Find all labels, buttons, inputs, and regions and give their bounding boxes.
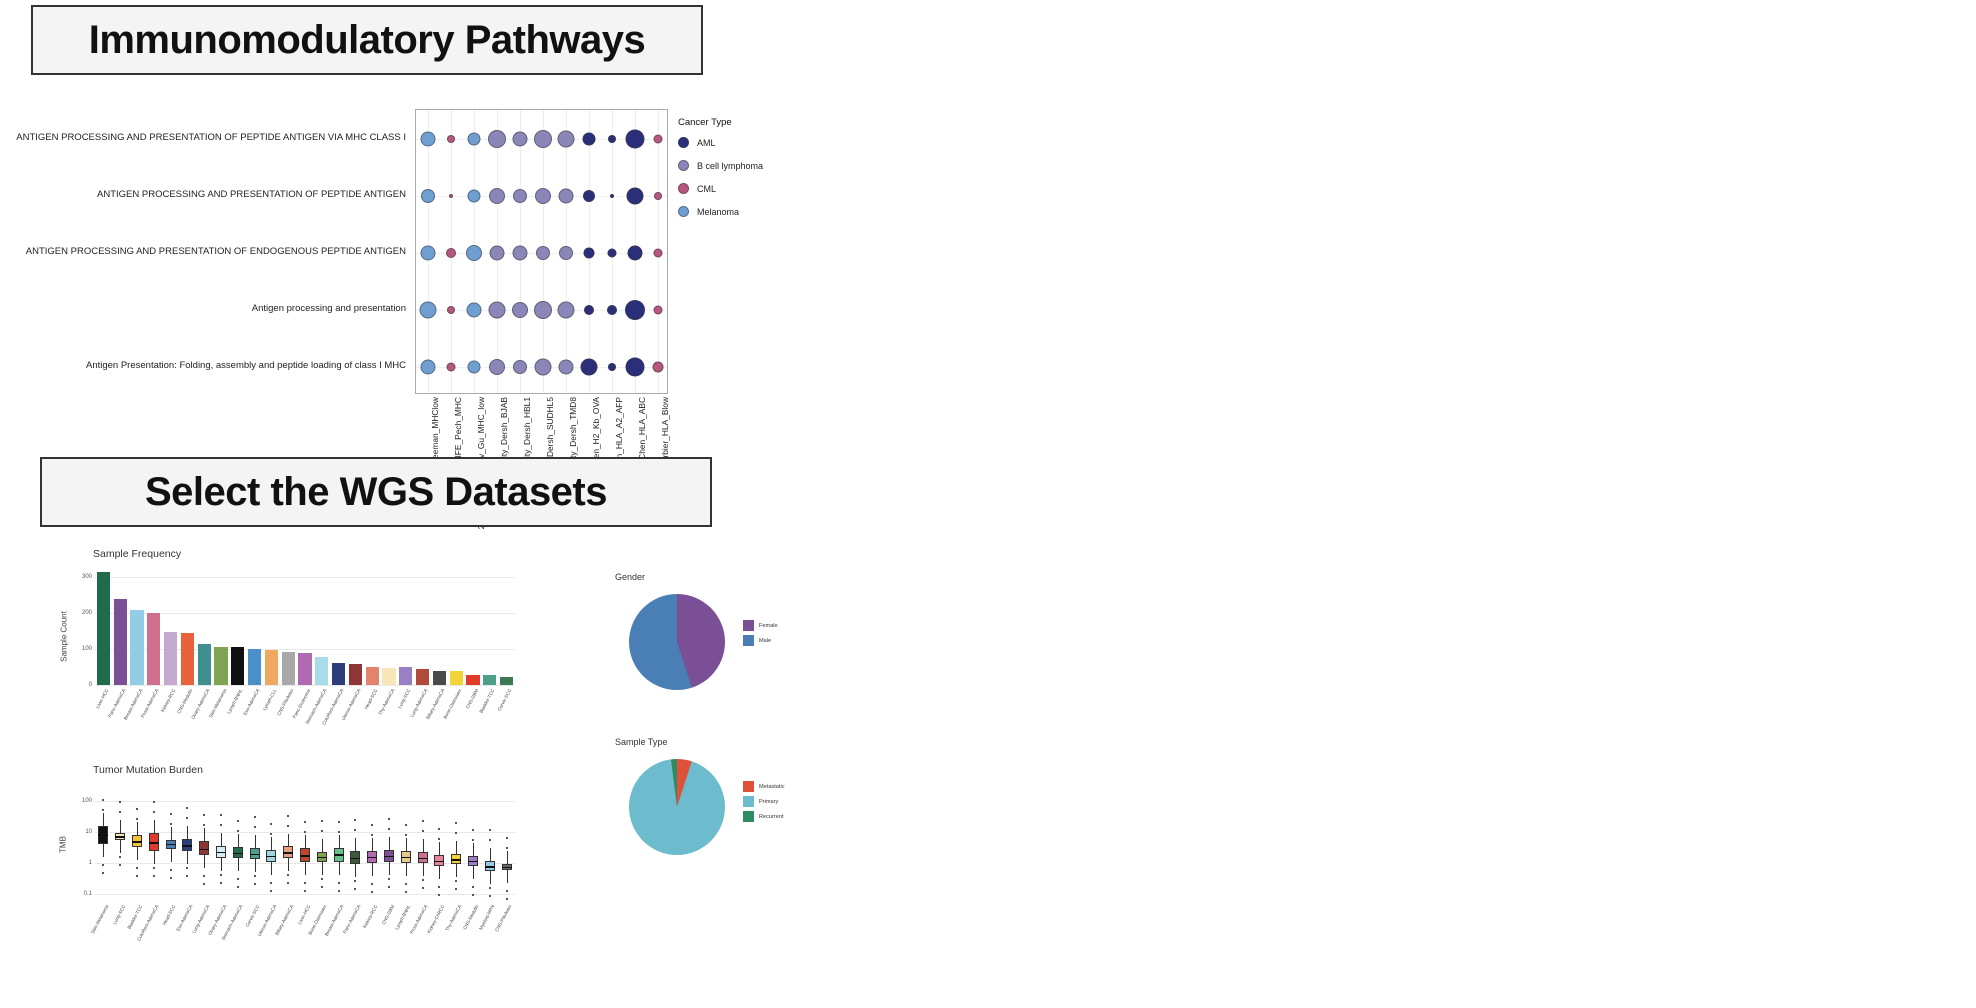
outlier-point	[338, 821, 340, 823]
outlier-point	[287, 815, 289, 817]
outlier-point	[304, 882, 306, 884]
dotplot-dot[interactable]	[653, 248, 662, 257]
pie-legend: MetastaticPrimaryRecurrent	[743, 781, 785, 826]
dotplot-dot[interactable]	[580, 358, 597, 375]
bar[interactable]	[450, 671, 463, 685]
x-tick-label: Skin-Melanoma	[208, 688, 227, 719]
median-line	[266, 856, 276, 858]
legend-color-swatch	[743, 811, 754, 822]
outlier-point	[422, 879, 424, 881]
legend-item[interactable]: Recurrent	[743, 811, 785, 822]
y-tick-label: 300	[75, 574, 92, 580]
dotplot-dot[interactable]	[447, 306, 455, 314]
grid-line	[95, 577, 515, 578]
bar[interactable]	[500, 677, 513, 685]
bar[interactable]	[282, 652, 295, 685]
outlier-point	[371, 824, 373, 826]
dotplot-dot[interactable]	[653, 305, 662, 314]
x-tick-label: Lymph-BNHL	[227, 688, 244, 715]
dotplot-dot[interactable]	[625, 300, 645, 320]
outlier-point	[287, 882, 289, 884]
outlier-point	[455, 888, 457, 890]
pie[interactable]	[629, 594, 725, 690]
panel-immunomodulatory-pathways: Immunomodulatory Pathways ANTIGEN PROCES…	[0, 0, 988, 470]
outlier-point	[254, 883, 256, 885]
outlier-point	[270, 823, 272, 825]
outlier-point	[203, 875, 205, 877]
median-line	[401, 857, 411, 859]
wgs-dashboard: Sample FrequencySample Count0100200300Li…	[35, 542, 835, 992]
dotplot-row-label: ANTIGEN PROCESSING AND PRESENTATION OF P…	[10, 109, 410, 166]
dotplot-dot[interactable]	[558, 359, 573, 374]
outlier-point	[304, 821, 306, 823]
outlier-point	[489, 829, 491, 831]
dotplot-dot[interactable]	[583, 190, 595, 202]
x-tick-label: Cervix-SCC	[497, 688, 513, 712]
legend-item-label: Metastatic	[759, 784, 785, 790]
tumor-mutation-burden-chart: Tumor Mutation BurdenTMB0.1110100Skin-Me…	[35, 760, 595, 990]
pie[interactable]	[629, 759, 725, 855]
outlier-point	[321, 830, 323, 832]
legend-item-label: AML	[697, 138, 716, 148]
outlier-point	[119, 801, 121, 803]
pie-legend: FemaleMale	[743, 620, 778, 650]
bar[interactable]	[181, 633, 194, 685]
chart-title: Tumor Mutation Burden	[93, 764, 203, 776]
outlier-point	[489, 887, 491, 889]
outlier-point	[254, 816, 256, 818]
median-line	[132, 841, 142, 843]
dotplot-dot[interactable]	[513, 360, 527, 374]
legend-color-swatch	[678, 137, 689, 148]
dotplot-dot[interactable]	[608, 135, 616, 143]
outlier-point	[506, 890, 508, 892]
outlier-point	[203, 814, 205, 816]
x-tick-label: Uterus-AdenoCA	[341, 688, 362, 721]
dotplot-dot[interactable]	[583, 247, 594, 258]
outlier-point	[153, 867, 155, 869]
x-tick-label: Lymph-CLL	[262, 688, 277, 711]
legend-item[interactable]: AML	[678, 137, 763, 148]
outlier-point	[153, 801, 155, 803]
chart-title: Gender	[615, 572, 645, 582]
median-line	[367, 857, 377, 859]
bar[interactable]	[349, 664, 362, 685]
dotplot-dot[interactable]	[512, 245, 527, 260]
outlier-point	[254, 875, 256, 877]
median-line	[250, 854, 260, 856]
dotplot-chart: ANTIGEN PROCESSING AND PRESENTATION OF P…	[0, 95, 800, 425]
dotplot-dot[interactable]	[535, 188, 551, 204]
x-tick-label: CNS-GBM	[464, 688, 479, 710]
dotplot-dot[interactable]	[419, 301, 436, 318]
outlier-point	[237, 878, 239, 880]
dotplot-dot[interactable]	[534, 301, 552, 319]
legend-item-label: Melanoma	[697, 207, 739, 217]
x-tick-label: Lymph-BNHL	[395, 904, 412, 931]
outlier-point	[438, 828, 440, 830]
dotplot-dot[interactable]	[467, 360, 480, 373]
x-tick-label: Cervix-SCC	[245, 904, 261, 928]
dotplot-dot[interactable]	[488, 130, 506, 148]
outlier-point	[388, 818, 390, 820]
outlier-point	[422, 887, 424, 889]
dotplot-dot[interactable]	[512, 302, 528, 318]
dotplot-dot[interactable]	[534, 358, 551, 375]
dotplot-dot[interactable]	[607, 248, 616, 257]
legend-item-label: Recurrent	[759, 814, 784, 820]
dotplot-dot[interactable]	[466, 302, 481, 317]
dotplot-dot[interactable]	[607, 305, 617, 315]
outlier-point	[254, 826, 256, 828]
outlier-point	[338, 890, 340, 892]
outlier-point	[153, 811, 155, 813]
panel-select-wgs-datasets: Select the WGS Datasets Sample Frequency…	[0, 470, 988, 1008]
bar[interactable]	[164, 632, 177, 685]
outlier-point	[388, 828, 390, 830]
dotplot-dot[interactable]	[488, 301, 505, 318]
dotplot-dot[interactable]	[534, 130, 552, 148]
dotplot-dot[interactable]	[652, 361, 663, 372]
legend-color-swatch	[743, 620, 754, 631]
dotplot-dot[interactable]	[584, 305, 594, 315]
outlier-point	[304, 831, 306, 833]
outlier-point	[455, 832, 457, 834]
y-tick-label: 0.1	[73, 891, 92, 897]
dotplot-dot[interactable]	[489, 359, 505, 375]
bar[interactable]	[231, 647, 244, 685]
y-tick-label: 10	[73, 829, 92, 835]
dotplot-row-label: ANTIGEN PROCESSING AND PRESENTATION OF E…	[10, 223, 410, 280]
outlier-point	[405, 824, 407, 826]
y-tick-label: 100	[75, 646, 92, 652]
outlier-point	[220, 824, 222, 826]
sample-frequency-chart: Sample FrequencySample Count0100200300Li…	[35, 542, 595, 757]
outlier-point	[220, 874, 222, 876]
x-tick-label: Skin-Melanoma	[90, 904, 109, 935]
legend-color-swatch	[743, 781, 754, 792]
outlier-point	[119, 864, 121, 866]
outlier-point	[354, 888, 356, 890]
median-line	[300, 855, 310, 857]
x-tick-label: Head-SCC	[363, 688, 378, 710]
outlier-point	[422, 820, 424, 822]
panel-explore-your-genes: Explore Your Genes TP530-1MHC-I regulati…	[988, 470, 1976, 1008]
outlier-point	[388, 886, 390, 888]
x-tick-label: Liver-HCC	[95, 688, 109, 709]
outlier-point	[506, 837, 508, 839]
bar[interactable]	[265, 650, 278, 685]
outlier-point	[472, 886, 474, 888]
panel-title-select-wgs-datasets: Select the WGS Datasets	[40, 457, 712, 527]
x-tick-label: Head-SCC	[162, 904, 177, 926]
dotplot-dot[interactable]	[626, 187, 643, 204]
x-tick-label: Thy-AdenoCA	[444, 904, 462, 932]
outlier-point	[438, 886, 440, 888]
x-tick-label: Kidney-RCC	[160, 688, 176, 713]
outlier-point	[405, 891, 407, 893]
dotplot-dot[interactable]	[557, 130, 574, 147]
dotplot-dot[interactable]	[610, 194, 614, 198]
outlier-point	[170, 813, 172, 815]
x-tick-label: Lung-SCC	[397, 688, 411, 709]
y-tick-label: 200	[75, 610, 92, 616]
median-line	[115, 836, 125, 838]
x-tick-label: Myeloid-MPN	[479, 904, 496, 931]
bar[interactable]	[114, 599, 127, 685]
outlier-point	[186, 875, 188, 877]
bar[interactable]	[298, 653, 311, 685]
outlier-point	[119, 811, 121, 813]
median-line	[384, 856, 394, 858]
outlier-point	[136, 875, 138, 877]
x-tick-label: Kidney-ChRCC	[426, 904, 445, 934]
x-tick-label: CNS-PiloAstro	[494, 904, 512, 933]
outlier-point	[405, 883, 407, 885]
outlier-point	[270, 833, 272, 835]
bar[interactable]	[332, 663, 345, 685]
bar[interactable]	[315, 657, 328, 685]
dotplot-dot[interactable]	[489, 245, 504, 260]
median-line	[317, 857, 327, 859]
legend-item-label: Female	[759, 623, 778, 629]
outlier-point	[220, 814, 222, 816]
x-tick-label: Panc-AdenoCA	[342, 904, 361, 934]
x-tick-label: Liver-HCC	[297, 904, 311, 925]
x-tick-label: Prost-AdenoCA	[140, 688, 159, 719]
sample-type-pie-chart: Sample TypeMetastaticPrimaryRecurrent	[615, 737, 865, 897]
outlier-point	[220, 882, 222, 884]
dotplot-dot[interactable]	[625, 357, 644, 376]
outlier-point	[472, 829, 474, 831]
dotplot-dot[interactable]	[446, 248, 456, 258]
legend-color-swatch	[678, 183, 689, 194]
outlier-point	[489, 839, 491, 841]
dotplot-dot[interactable]	[421, 189, 435, 203]
bar[interactable]	[214, 647, 227, 685]
outlier-point	[354, 880, 356, 882]
median-line	[451, 859, 461, 861]
median-line	[485, 866, 495, 868]
panel-immune-escape-evolution: Immune Escape Evolution EarlyDriver gene…	[988, 0, 1976, 470]
dotplot-row-label: Antigen Presentation: Folding, assembly …	[10, 337, 410, 394]
outlier-point	[371, 834, 373, 836]
outlier-point	[506, 898, 508, 900]
x-tick-label: Bladder-TCC	[126, 904, 143, 930]
dotplot-dot[interactable]	[420, 245, 435, 260]
grid-line	[95, 894, 515, 895]
x-tick-label: CNS-PiloAstro	[276, 688, 294, 717]
outlier-point	[186, 807, 188, 809]
median-line	[166, 844, 176, 846]
x-tick-label: Bone-Osteosarc	[442, 688, 462, 720]
dotplot-dot[interactable]	[558, 188, 573, 203]
bar[interactable]	[483, 675, 496, 685]
legend-title: Cancer Type	[678, 117, 763, 128]
dotplot-dot[interactable]	[420, 131, 435, 146]
x-tick-label: Bladder-TCC	[479, 688, 496, 714]
median-line	[182, 845, 192, 847]
outlier-point	[102, 872, 104, 874]
outlier-point	[153, 875, 155, 877]
outlier-point	[186, 817, 188, 819]
x-tick-label: CNS-Medullo	[176, 688, 193, 714]
bar[interactable]	[130, 610, 143, 685]
legend-item-label: B cell lymphoma	[697, 161, 763, 171]
x-tick-label: Lung-SCC	[112, 904, 126, 925]
outlier-point	[405, 834, 407, 836]
outlier-point	[170, 823, 172, 825]
median-line	[283, 852, 293, 854]
legend-item[interactable]: Male	[743, 635, 778, 646]
median-line	[199, 849, 209, 851]
dotplot-dot[interactable]	[625, 129, 644, 148]
outlier-point	[102, 809, 104, 811]
x-tick-label: Kidney-RCC	[362, 904, 378, 929]
outlier-point	[321, 878, 323, 880]
dotplot-dot[interactable]	[654, 192, 662, 200]
panel-title-immunomodulatory-pathways: Immunomodulatory Pathways	[31, 5, 703, 75]
median-line	[434, 861, 444, 863]
dotplot-dot[interactable]	[446, 362, 455, 371]
outlier-point	[321, 886, 323, 888]
dotplot-row-label: Antigen processing and presentation	[10, 280, 410, 337]
dotplot-dot[interactable]	[627, 245, 642, 260]
dotplot-dot[interactable]	[608, 363, 616, 371]
dotplot-plot-area	[415, 109, 668, 394]
legend-item[interactable]: Metastatic	[743, 781, 785, 792]
dotplot-dot[interactable]	[466, 245, 482, 261]
bar[interactable]	[147, 613, 160, 685]
median-line	[502, 867, 512, 869]
outlier-point	[321, 820, 323, 822]
legend-color-swatch	[678, 160, 689, 171]
chart-title: Sample Frequency	[93, 548, 181, 560]
y-tick-label: 1	[73, 860, 92, 866]
outlier-point	[371, 891, 373, 893]
legend-item[interactable]: CML	[678, 183, 763, 194]
bar[interactable]	[382, 668, 395, 685]
outlier-point	[136, 867, 138, 869]
x-tick-label: Eso-AdenoCA	[243, 688, 261, 716]
outlier-point	[338, 831, 340, 833]
outlier-point	[170, 869, 172, 871]
median-line	[149, 842, 159, 844]
legend-item[interactable]: B cell lymphoma	[678, 160, 763, 171]
bar[interactable]	[399, 667, 412, 685]
bar[interactable]	[433, 671, 446, 685]
dotplot-dot[interactable]	[449, 194, 453, 198]
median-line	[233, 853, 243, 855]
dotplot-dot[interactable]	[557, 301, 574, 318]
median-line	[334, 854, 344, 856]
outlier-point	[304, 890, 306, 892]
dotplot-legend: Cancer Type AMLB cell lymphomaCMLMelanom…	[678, 117, 763, 229]
dotplot-dot[interactable]	[512, 131, 527, 146]
dotplot-dot[interactable]	[420, 359, 435, 374]
outlier-point	[489, 895, 491, 897]
outlier-point	[388, 878, 390, 880]
dotplot-dot[interactable]	[559, 246, 573, 260]
bar[interactable]	[248, 649, 261, 685]
median-line	[98, 834, 108, 836]
outlier-point	[371, 883, 373, 885]
legend-color-swatch	[678, 206, 689, 217]
x-tick-label: CNS-Medullo	[462, 904, 479, 930]
dotplot-row-label: ANTIGEN PROCESSING AND PRESENTATION OF P…	[10, 166, 410, 223]
legend-item[interactable]: Melanoma	[678, 206, 763, 217]
y-axis-label: TMB	[59, 805, 68, 885]
bar[interactable]	[466, 675, 479, 685]
x-tick-label: Panc-AdenoCA	[107, 688, 126, 718]
legend-item-label: Primary	[759, 799, 778, 805]
bar[interactable]	[198, 644, 211, 685]
outlier-point	[186, 867, 188, 869]
outlier-point	[136, 818, 138, 820]
dotplot-dot[interactable]	[653, 134, 662, 143]
outlier-point	[170, 877, 172, 879]
dashboard-grid: Immunomodulatory Pathways ANTIGEN PROCES…	[0, 0, 1976, 1008]
legend-item[interactable]: Primary	[743, 796, 785, 807]
dotplot-dot[interactable]	[489, 188, 505, 204]
dotplot-dot[interactable]	[447, 135, 455, 143]
outlier-point	[455, 822, 457, 824]
outlier-point	[455, 880, 457, 882]
outlier-point	[270, 882, 272, 884]
dotplot-dot[interactable]	[467, 189, 480, 202]
outlier-point	[237, 886, 239, 888]
dotplot-dot[interactable]	[536, 246, 550, 260]
outlier-point	[472, 839, 474, 841]
grid-line	[95, 685, 515, 686]
median-line	[350, 858, 360, 860]
legend-item-label: Male	[759, 638, 771, 644]
chart-title: Sample Type	[615, 737, 667, 747]
x-tick-label: Lung-AdenoCA	[191, 904, 210, 934]
median-line	[418, 858, 428, 860]
legend-item[interactable]: Female	[743, 620, 778, 631]
bar[interactable]	[416, 669, 429, 685]
outlier-point	[270, 890, 272, 892]
outlier-point	[203, 824, 205, 826]
legend-item-label: CML	[697, 184, 716, 194]
outlier-point	[472, 894, 474, 896]
outlier-point	[203, 883, 205, 885]
dotplot-row-labels: ANTIGEN PROCESSING AND PRESENTATION OF P…	[10, 109, 410, 394]
x-tick-label: Eso-AdenoCA	[175, 904, 193, 932]
dotplot-dot[interactable]	[582, 132, 595, 145]
x-tick-label: Lung-AdenoCA	[410, 688, 429, 718]
bar[interactable]	[97, 572, 110, 685]
x-tick-label: CNS-GBM	[380, 904, 395, 926]
outlier-point	[136, 808, 138, 810]
outlier-point	[287, 874, 289, 876]
y-tick-label: 100	[73, 798, 92, 804]
grid-line	[95, 801, 515, 802]
outlier-point	[354, 819, 356, 821]
outlier-point	[119, 856, 121, 858]
gender-pie-chart: GenderFemaleMale	[615, 572, 865, 732]
dotplot-dot[interactable]	[513, 189, 527, 203]
median-line	[468, 861, 478, 863]
outlier-point	[102, 864, 104, 866]
bar[interactable]	[366, 667, 379, 685]
dotplot-dot[interactable]	[467, 132, 480, 145]
outlier-point	[338, 882, 340, 884]
legend-color-swatch	[743, 796, 754, 807]
outlier-point	[287, 825, 289, 827]
y-tick-label: 0	[75, 682, 92, 688]
